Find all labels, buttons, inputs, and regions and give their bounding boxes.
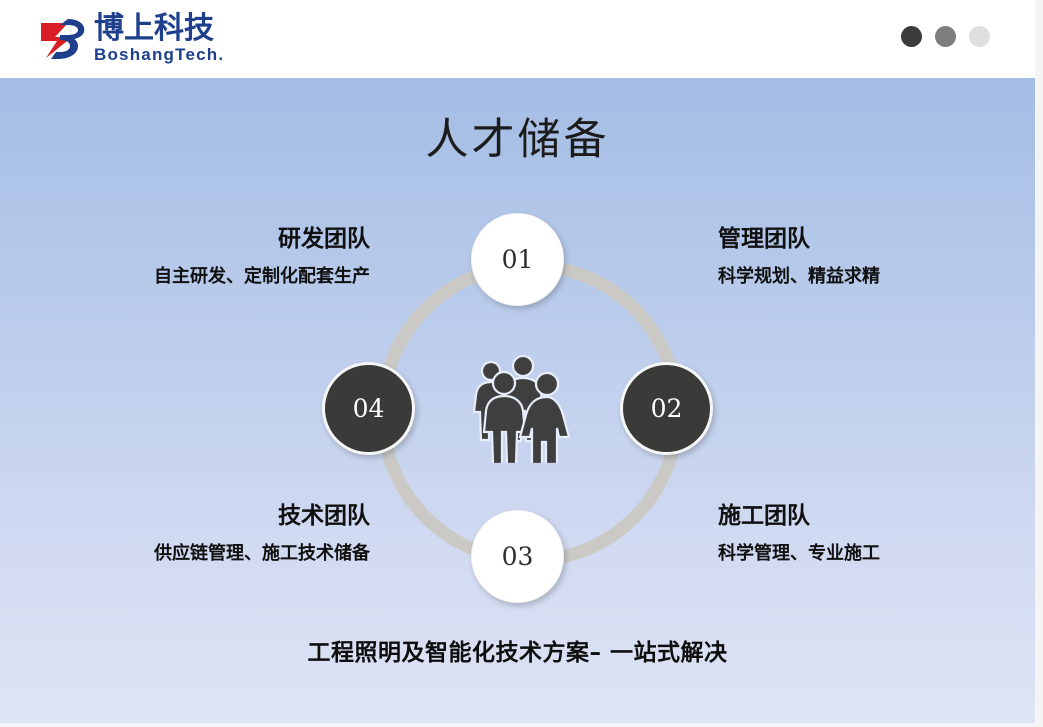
cycle-diagram: 01 02 03 04	[330, 213, 720, 603]
quadrant-construction-team: 施工团队 科学管理、专业施工	[718, 503, 1028, 564]
header-dot-group	[901, 26, 990, 47]
quadrant-rd-team: 研发团队 自主研发、定制化配套生产	[60, 226, 370, 287]
pagination-dot-1[interactable]	[901, 26, 922, 47]
quadrant-title: 技术团队	[60, 503, 370, 531]
slide-bottom-edge	[0, 723, 1043, 727]
presentation-slide: 博上科技 BoshangTech. 人才储备 研发团队 自主研发、定制化配套生产…	[0, 0, 1043, 727]
quadrant-title: 施工团队	[718, 503, 1028, 531]
quadrant-subtitle: 科学规划、精益求精	[718, 266, 1028, 288]
quadrant-title: 研发团队	[60, 226, 370, 254]
quadrant-subtitle: 自主研发、定制化配套生产	[60, 266, 370, 288]
people-group-icon	[461, 353, 581, 463]
diagram-node-04[interactable]: 04	[322, 362, 415, 455]
slide-right-edge	[1035, 0, 1043, 727]
company-logo: 博上科技 BoshangTech.	[38, 13, 224, 65]
node-number: 04	[353, 394, 385, 423]
quadrant-title: 管理团队	[718, 226, 1028, 254]
slide-header: 博上科技 BoshangTech.	[0, 0, 1035, 78]
slide-footer-tagline: 工程照明及智能化技术方案– 一站式解决	[0, 633, 1035, 667]
node-number: 01	[502, 245, 534, 274]
boshang-logo-mark-icon	[38, 16, 88, 62]
logo-chinese-name: 博上科技	[94, 14, 224, 45]
quadrant-technical-team: 技术团队 供应链管理、施工技术储备	[60, 503, 370, 564]
page-title: 人才储备	[0, 105, 1035, 167]
pagination-dot-3[interactable]	[969, 26, 990, 47]
slide-body: 人才储备 研发团队 自主研发、定制化配套生产 管理团队 科学规划、精益求精 技术…	[0, 78, 1035, 723]
logo-english-name: BoshangTech.	[94, 46, 224, 64]
diagram-node-01[interactable]: 01	[471, 213, 564, 306]
node-number: 02	[651, 394, 683, 423]
quadrant-management-team: 管理团队 科学规划、精益求精	[718, 226, 1028, 287]
node-number: 03	[502, 542, 534, 571]
diagram-node-03[interactable]: 03	[471, 510, 564, 603]
diagram-node-02[interactable]: 02	[620, 362, 713, 455]
quadrant-subtitle: 供应链管理、施工技术储备	[60, 543, 370, 565]
quadrant-subtitle: 科学管理、专业施工	[718, 543, 1028, 565]
pagination-dot-2[interactable]	[935, 26, 956, 47]
